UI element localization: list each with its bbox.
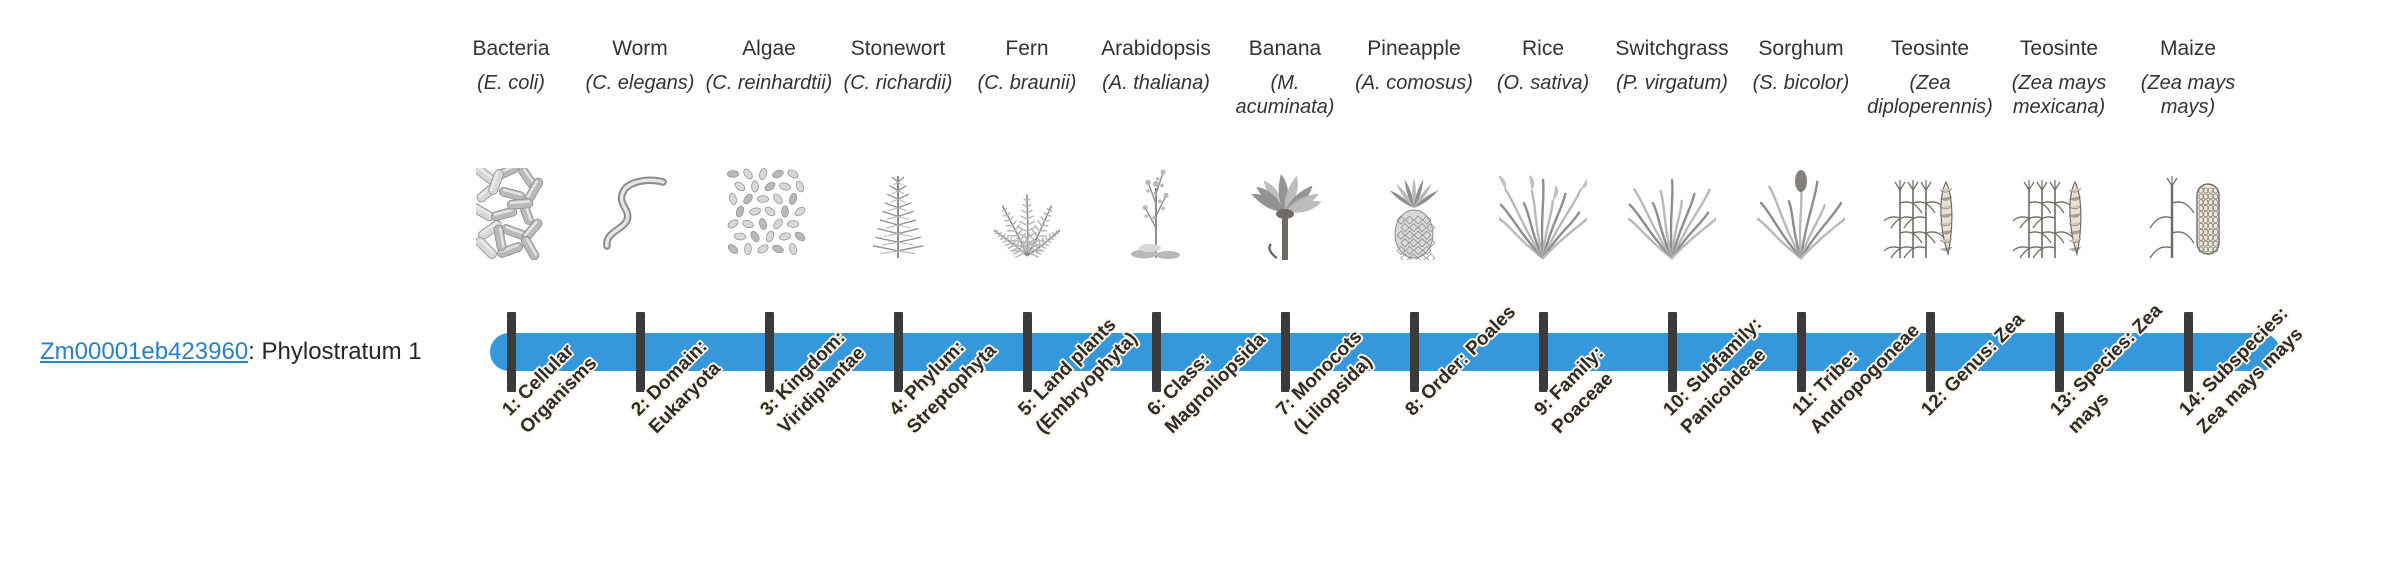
species-column-sorghum-11: Sorghum(S. bicolor): [1735, 36, 1867, 95]
species-common-name: Fern: [961, 36, 1093, 62]
sorghum-icon: [1735, 168, 1867, 260]
gene-label-separator: :: [248, 338, 261, 365]
phylostratigraphy-diagram: Zm00001eb423960: Phylostratum 1 Bacteria…: [0, 0, 2400, 580]
species-column-worm-2: Worm(C. elegans): [574, 36, 706, 95]
species-common-name: Algae: [703, 36, 835, 62]
species-latin-name: (P. virgatum): [1606, 71, 1738, 95]
species-column-switchgrass-10: Switchgrass(P. virgatum): [1606, 36, 1738, 95]
species-common-name: Bacteria: [445, 36, 577, 62]
species-common-name: Worm: [574, 36, 706, 62]
species-latin-name: (O. sativa): [1477, 71, 1609, 95]
species-latin-name: (Zea diploperennis): [1864, 71, 1996, 119]
species-column-arabidopsis-6: Arabidopsis(A. thaliana): [1090, 36, 1222, 95]
species-column-teosinte-13: Teosinte(Zea mays mexicana): [1993, 36, 2125, 119]
species-column-rice-9: Rice(O. sativa): [1477, 36, 1609, 95]
species-common-name: Maize: [2122, 36, 2254, 62]
maize-icon: [2122, 168, 2254, 260]
gene-phylostratum-value: Phylostratum 1: [262, 338, 422, 365]
teosinte-diplo-icon: [1864, 168, 1996, 260]
tick-mark-13: [2055, 312, 2064, 392]
species-common-name: Banana: [1219, 36, 1351, 62]
algae-icon: [703, 168, 835, 260]
species-latin-name: (E. coli): [445, 71, 577, 95]
species-column-banana-7: Banana(M. acuminata): [1219, 36, 1351, 119]
species-common-name: Pineapple: [1348, 36, 1480, 62]
species-common-name: Sorghum: [1735, 36, 1867, 62]
species-latin-name: (A. thaliana): [1090, 71, 1222, 95]
species-column-bacteria-1: Bacteria(E. coli): [445, 36, 577, 95]
species-column-teosinte-12: Teosinte(Zea diploperennis): [1864, 36, 1996, 119]
gene-id-link[interactable]: Zm00001eb423960: [40, 338, 248, 365]
species-latin-name: (A. comosus): [1348, 71, 1480, 95]
species-common-name: Arabidopsis: [1090, 36, 1222, 62]
species-latin-name: (C. elegans): [574, 71, 706, 95]
arabidopsis-icon: [1090, 168, 1222, 260]
species-latin-name: (C. reinhardtii): [703, 71, 835, 95]
species-latin-name: (Zea mays mexicana): [1993, 71, 2125, 119]
species-common-name: Stonewort: [832, 36, 964, 62]
tick-mark-9: [1539, 312, 1548, 392]
species-common-name: Switchgrass: [1606, 36, 1738, 62]
tick-mark-1: [507, 312, 516, 392]
species-column-stonewort-4: Stonewort(C. richardii): [832, 36, 964, 95]
species-common-name: Rice: [1477, 36, 1609, 62]
species-column-algae-3: Algae(C. reinhardtii): [703, 36, 835, 95]
species-common-name: Teosinte: [1993, 36, 2125, 62]
rice-icon: [1477, 168, 1609, 260]
banana-icon: [1219, 168, 1351, 260]
worm-icon: [574, 168, 706, 260]
species-latin-name: (S. bicolor): [1735, 71, 1867, 95]
species-common-name: Teosinte: [1864, 36, 1996, 62]
fern-icon: [961, 168, 1093, 260]
species-latin-name: (M. acuminata): [1219, 71, 1351, 119]
bacteria-icon: [445, 168, 577, 260]
species-column-maize-14: Maize(Zea mays mays): [2122, 36, 2254, 119]
species-latin-name: (Zea mays mays): [2122, 71, 2254, 119]
species-column-fern-5: Fern(C. braunii): [961, 36, 1093, 95]
teosinte-mex-icon: [1993, 168, 2125, 260]
species-latin-name: (C. braunii): [961, 71, 1093, 95]
switchgrass-icon: [1606, 168, 1738, 260]
stonewort-icon: [832, 168, 964, 260]
species-column-pineapple-8: Pineapple(A. comosus): [1348, 36, 1480, 95]
gene-phylostratum-label: Zm00001eb423960: Phylostratum 1: [40, 338, 422, 366]
species-latin-name: (C. richardii): [832, 71, 964, 95]
pineapple-icon: [1348, 168, 1480, 260]
